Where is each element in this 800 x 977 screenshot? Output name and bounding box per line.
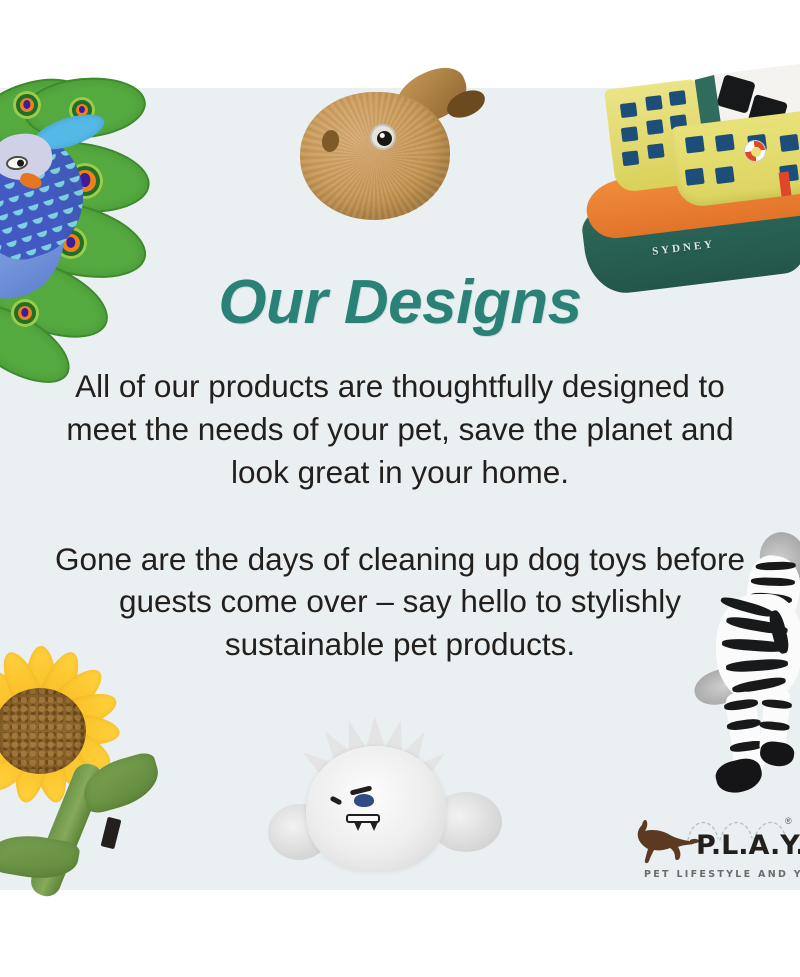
sunflower-plush-toy bbox=[0, 640, 166, 890]
bunny-plush-toy bbox=[296, 76, 476, 226]
paragraph-two: Gone are the days of cleaning up dog toy… bbox=[50, 538, 750, 666]
yeti-plush-toy bbox=[296, 742, 496, 890]
sunflower-brand-tag bbox=[101, 817, 122, 849]
yeti-fang-right bbox=[370, 822, 378, 831]
bunny-eye bbox=[370, 124, 396, 150]
yeti-eye bbox=[354, 794, 374, 807]
registered-trademark-icon: ® bbox=[785, 816, 792, 826]
page-title: Our Designs bbox=[0, 270, 800, 335]
yeti-fang-left bbox=[354, 822, 362, 831]
promo-banner: SYDNEY bbox=[0, 0, 800, 977]
logo-tagline: PET LIFESTYLE AND YOU bbox=[644, 869, 800, 880]
bunny-fur-texture bbox=[300, 92, 450, 220]
text-content-block: Our Designs All of our products are thou… bbox=[0, 270, 800, 666]
play-brand-logo: P.L.A.Y. ® PET LIFESTYLE AND YOU bbox=[630, 812, 798, 892]
yeti-head bbox=[306, 746, 446, 872]
paragraph-one: All of our products are thoughtfully des… bbox=[50, 365, 750, 493]
zebra-hoof-front bbox=[713, 755, 765, 797]
logo-wordmark: P.L.A.Y. bbox=[696, 832, 800, 859]
sydney-ferry-plush-toy: SYDNEY bbox=[584, 74, 800, 289]
